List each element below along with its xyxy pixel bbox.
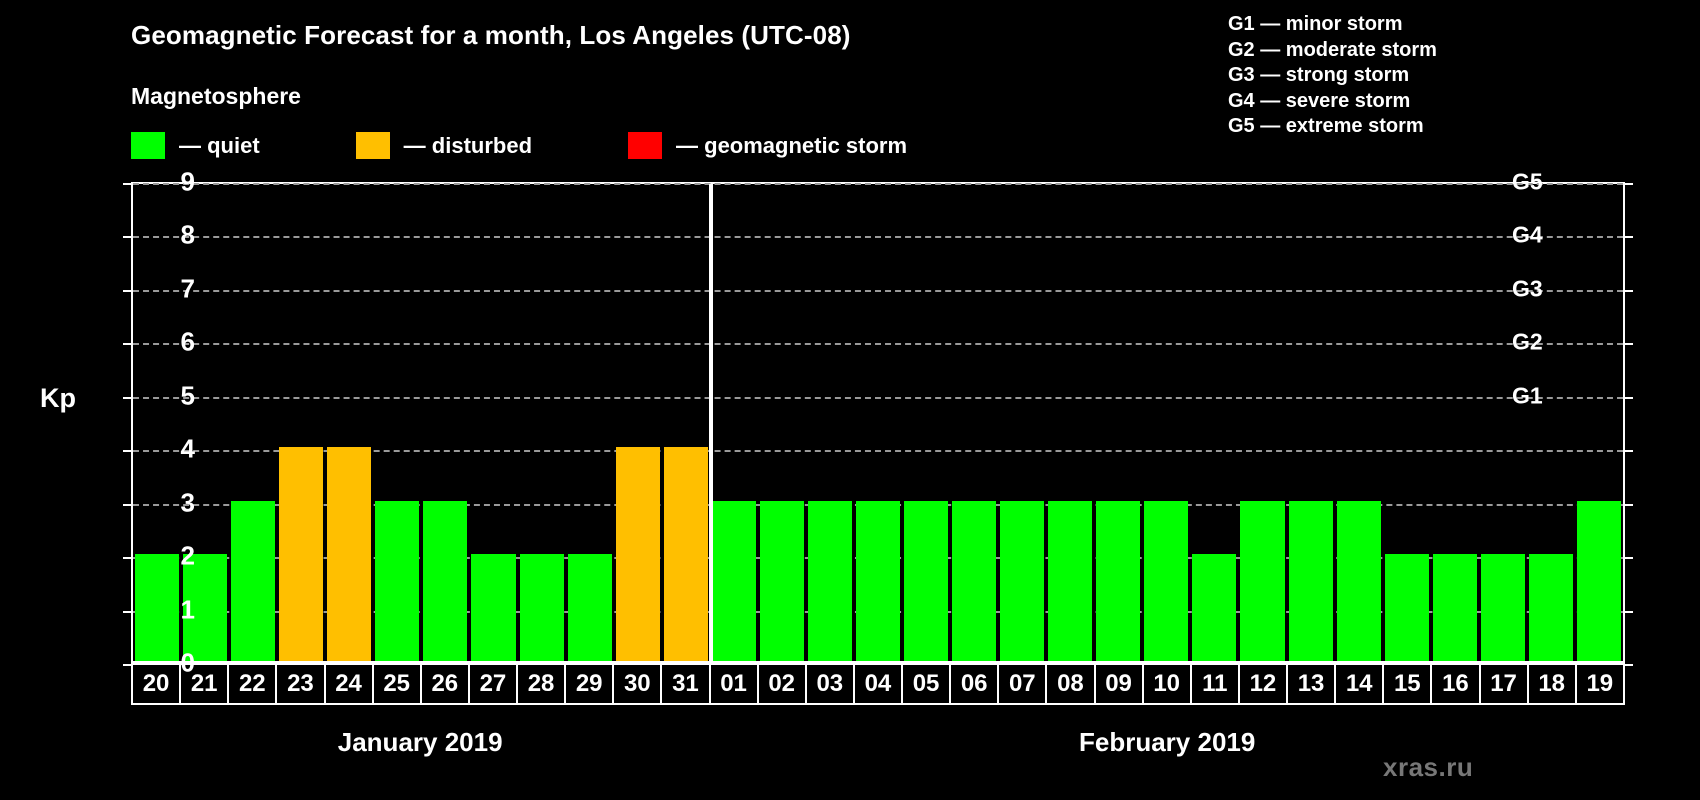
bar-cell[interactable]: [854, 184, 902, 661]
storm-scale-row-g5: G5 — extreme storm: [1228, 114, 1437, 140]
bar-day-02[interactable]: [760, 501, 804, 661]
bar-cell[interactable]: [1383, 184, 1431, 661]
y-tick-right-8: [1623, 236, 1633, 238]
bar-series: [133, 184, 1623, 661]
y-tick-left-9: [123, 183, 133, 185]
day-label-05[interactable]: 05: [901, 663, 949, 705]
y-tick-label-8: 8: [181, 220, 195, 251]
bar-cell[interactable]: [614, 184, 662, 661]
g-tick-label-g3: G3: [1512, 275, 1543, 302]
bar-day-13[interactable]: [1289, 501, 1333, 661]
y-tick-right-4: [1623, 450, 1633, 452]
y-tick-label-6: 6: [181, 327, 195, 358]
month-caption-january: January 2019: [338, 727, 503, 758]
bar-cell[interactable]: [758, 184, 806, 661]
legend-item-geomagneticstorm: — geomagnetic storm: [628, 132, 907, 159]
bar-day-25[interactable]: [375, 501, 419, 661]
y-tick-label-9: 9: [181, 167, 195, 198]
g-tick-label-g1: G1: [1512, 382, 1543, 409]
storm-scale-row-g3: G3 — strong storm: [1228, 63, 1437, 89]
bar-cell[interactable]: [1287, 184, 1335, 661]
day-label-19[interactable]: 19: [1575, 663, 1625, 705]
bar-cell[interactable]: [662, 184, 710, 661]
y-tick-label-0: 0: [181, 648, 195, 679]
day-label-09[interactable]: 09: [1094, 663, 1142, 705]
month-divider: [709, 184, 713, 661]
bar-day-04[interactable]: [856, 501, 900, 661]
day-label-14[interactable]: 14: [1334, 663, 1382, 705]
bar-day-08[interactable]: [1048, 501, 1092, 661]
legend-item-disturbed: — disturbed: [356, 132, 532, 159]
day-label-03[interactable]: 03: [805, 663, 853, 705]
day-label-27[interactable]: 27: [468, 663, 516, 705]
y-tick-right-6: [1623, 343, 1633, 345]
bar-day-09[interactable]: [1096, 501, 1140, 661]
bar-cell[interactable]: [902, 184, 950, 661]
bar-day-05[interactable]: [904, 501, 948, 661]
day-label-20[interactable]: 20: [131, 663, 179, 705]
y-tick-left-7: [123, 290, 133, 292]
bar-cell[interactable]: [1527, 184, 1575, 661]
day-label-10[interactable]: 10: [1142, 663, 1190, 705]
bar-day-31[interactable]: [664, 447, 708, 661]
day-label-30[interactable]: 30: [612, 663, 660, 705]
bar-cell[interactable]: [1431, 184, 1479, 661]
day-label-25[interactable]: 25: [372, 663, 420, 705]
bar-day-07[interactable]: [1000, 501, 1044, 661]
bar-day-19[interactable]: [1577, 501, 1621, 661]
y-tick-left-4: [123, 450, 133, 452]
day-label-31[interactable]: 31: [660, 663, 708, 705]
month-caption-february: February 2019: [1079, 727, 1255, 758]
g-tick-label-g4: G4: [1512, 222, 1543, 249]
bar-cell[interactable]: [1238, 184, 1286, 661]
day-label-08[interactable]: 08: [1045, 663, 1093, 705]
bar-cell[interactable]: [1190, 184, 1238, 661]
legend: — quiet— disturbed— geomagnetic storm: [131, 132, 907, 159]
bar-cell[interactable]: [277, 184, 325, 661]
bar-day-01[interactable]: [712, 501, 756, 661]
bar-day-17[interactable]: [1481, 554, 1525, 661]
bar-cell[interactable]: [998, 184, 1046, 661]
legend-label: — disturbed: [404, 133, 532, 159]
page-title: Geomagnetic Forecast for a month, Los An…: [131, 20, 851, 51]
bar-cell[interactable]: [1142, 184, 1190, 661]
legend-swatch-icon: [628, 132, 662, 159]
y-tick-right-1: [1623, 611, 1633, 613]
g-tick-label-g2: G2: [1512, 329, 1543, 356]
y-tick-left-8: [123, 236, 133, 238]
day-label-07[interactable]: 07: [997, 663, 1045, 705]
bar-day-27[interactable]: [471, 554, 515, 661]
legend-item-quiet: — quiet: [131, 132, 260, 159]
y-tick-label-7: 7: [181, 273, 195, 304]
bar-day-29[interactable]: [568, 554, 612, 661]
day-label-13[interactable]: 13: [1286, 663, 1334, 705]
day-label-01[interactable]: 01: [709, 663, 757, 705]
bar-day-10[interactable]: [1144, 501, 1188, 661]
bar-cell[interactable]: [229, 184, 277, 661]
bar-day-22[interactable]: [231, 501, 275, 661]
storm-scale-row-g2: G2 — moderate storm: [1228, 38, 1437, 64]
bar-cell[interactable]: [1479, 184, 1527, 661]
y-tick-right-2: [1623, 557, 1633, 559]
bar-day-24[interactable]: [327, 447, 371, 661]
bar-cell[interactable]: [1046, 184, 1094, 661]
bar-day-20[interactable]: [135, 554, 179, 661]
g-tick-label-g5: G5: [1512, 169, 1543, 196]
day-label-22[interactable]: 22: [227, 663, 275, 705]
bar-cell[interactable]: [373, 184, 421, 661]
bar-day-18[interactable]: [1529, 554, 1573, 661]
bar-cell[interactable]: [566, 184, 614, 661]
storm-scale-row-g4: G4 — severe storm: [1228, 89, 1437, 115]
y-axis-title: Kp: [40, 383, 76, 414]
legend-label: — geomagnetic storm: [676, 133, 907, 159]
day-label-15[interactable]: 15: [1382, 663, 1430, 705]
bar-cell[interactable]: [325, 184, 373, 661]
y-tick-left-2: [123, 557, 133, 559]
y-tick-right-5: [1623, 397, 1633, 399]
bar-cell[interactable]: [710, 184, 758, 661]
day-label-23[interactable]: 23: [275, 663, 323, 705]
y-tick-left-3: [123, 504, 133, 506]
y-tick-label-2: 2: [181, 541, 195, 572]
y-tick-right-9: [1623, 183, 1633, 185]
y-tick-label-3: 3: [181, 487, 195, 518]
bar-day-03[interactable]: [808, 501, 852, 661]
storm-scale-row-g1: G1 — minor storm: [1228, 12, 1437, 38]
bar-cell[interactable]: [1094, 184, 1142, 661]
day-label-28[interactable]: 28: [516, 663, 564, 705]
y-tick-left-5: [123, 397, 133, 399]
day-label-16[interactable]: 16: [1430, 663, 1478, 705]
day-label-04[interactable]: 04: [853, 663, 901, 705]
y-tick-left-6: [123, 343, 133, 345]
day-axis: 2021222324252627282930310102030405060708…: [131, 663, 1625, 705]
bar-cell[interactable]: [421, 184, 469, 661]
day-label-17[interactable]: 17: [1479, 663, 1527, 705]
bar-day-15[interactable]: [1385, 554, 1429, 661]
bar-cell[interactable]: [950, 184, 998, 661]
legend-label: — quiet: [179, 133, 260, 159]
y-tick-label-4: 4: [181, 434, 195, 465]
legend-swatch-icon: [356, 132, 390, 159]
bar-cell[interactable]: [133, 184, 181, 661]
bar-cell[interactable]: [469, 184, 517, 661]
bar-cell[interactable]: [1335, 184, 1383, 661]
bar-cell[interactable]: [1575, 184, 1623, 661]
bar-day-26[interactable]: [423, 501, 467, 661]
y-tick-right-7: [1623, 290, 1633, 292]
bar-day-30[interactable]: [616, 447, 660, 661]
y-tick-label-1: 1: [181, 594, 195, 625]
magnetosphere-label: Magnetosphere: [131, 83, 301, 110]
day-label-02[interactable]: 02: [757, 663, 805, 705]
bar-day-06[interactable]: [952, 501, 996, 661]
day-label-26[interactable]: 26: [420, 663, 468, 705]
bar-day-16[interactable]: [1433, 554, 1477, 661]
bar-cell[interactable]: [181, 184, 229, 661]
day-label-29[interactable]: 29: [564, 663, 612, 705]
y-tick-left-1: [123, 611, 133, 613]
bar-day-14[interactable]: [1337, 501, 1381, 661]
day-label-11[interactable]: 11: [1190, 663, 1238, 705]
plot-area: [131, 182, 1625, 663]
legend-swatch-icon: [131, 132, 165, 159]
bar-day-28[interactable]: [520, 554, 564, 661]
geomagnetic-forecast-chart: Geomagnetic Forecast for a month, Los An…: [0, 0, 1700, 800]
day-label-12[interactable]: 12: [1238, 663, 1286, 705]
day-label-06[interactable]: 06: [949, 663, 997, 705]
bar-day-11[interactable]: [1192, 554, 1236, 661]
storm-scale-legend: G1 — minor stormG2 — moderate stormG3 — …: [1228, 12, 1437, 140]
bar-day-12[interactable]: [1240, 501, 1284, 661]
bar-cell[interactable]: [518, 184, 566, 661]
bar-day-23[interactable]: [279, 447, 323, 661]
y-tick-label-5: 5: [181, 380, 195, 411]
day-label-18[interactable]: 18: [1527, 663, 1575, 705]
y-tick-right-3: [1623, 504, 1633, 506]
bar-cell[interactable]: [806, 184, 854, 661]
watermark: xras.ru: [1383, 752, 1473, 783]
day-label-24[interactable]: 24: [324, 663, 372, 705]
